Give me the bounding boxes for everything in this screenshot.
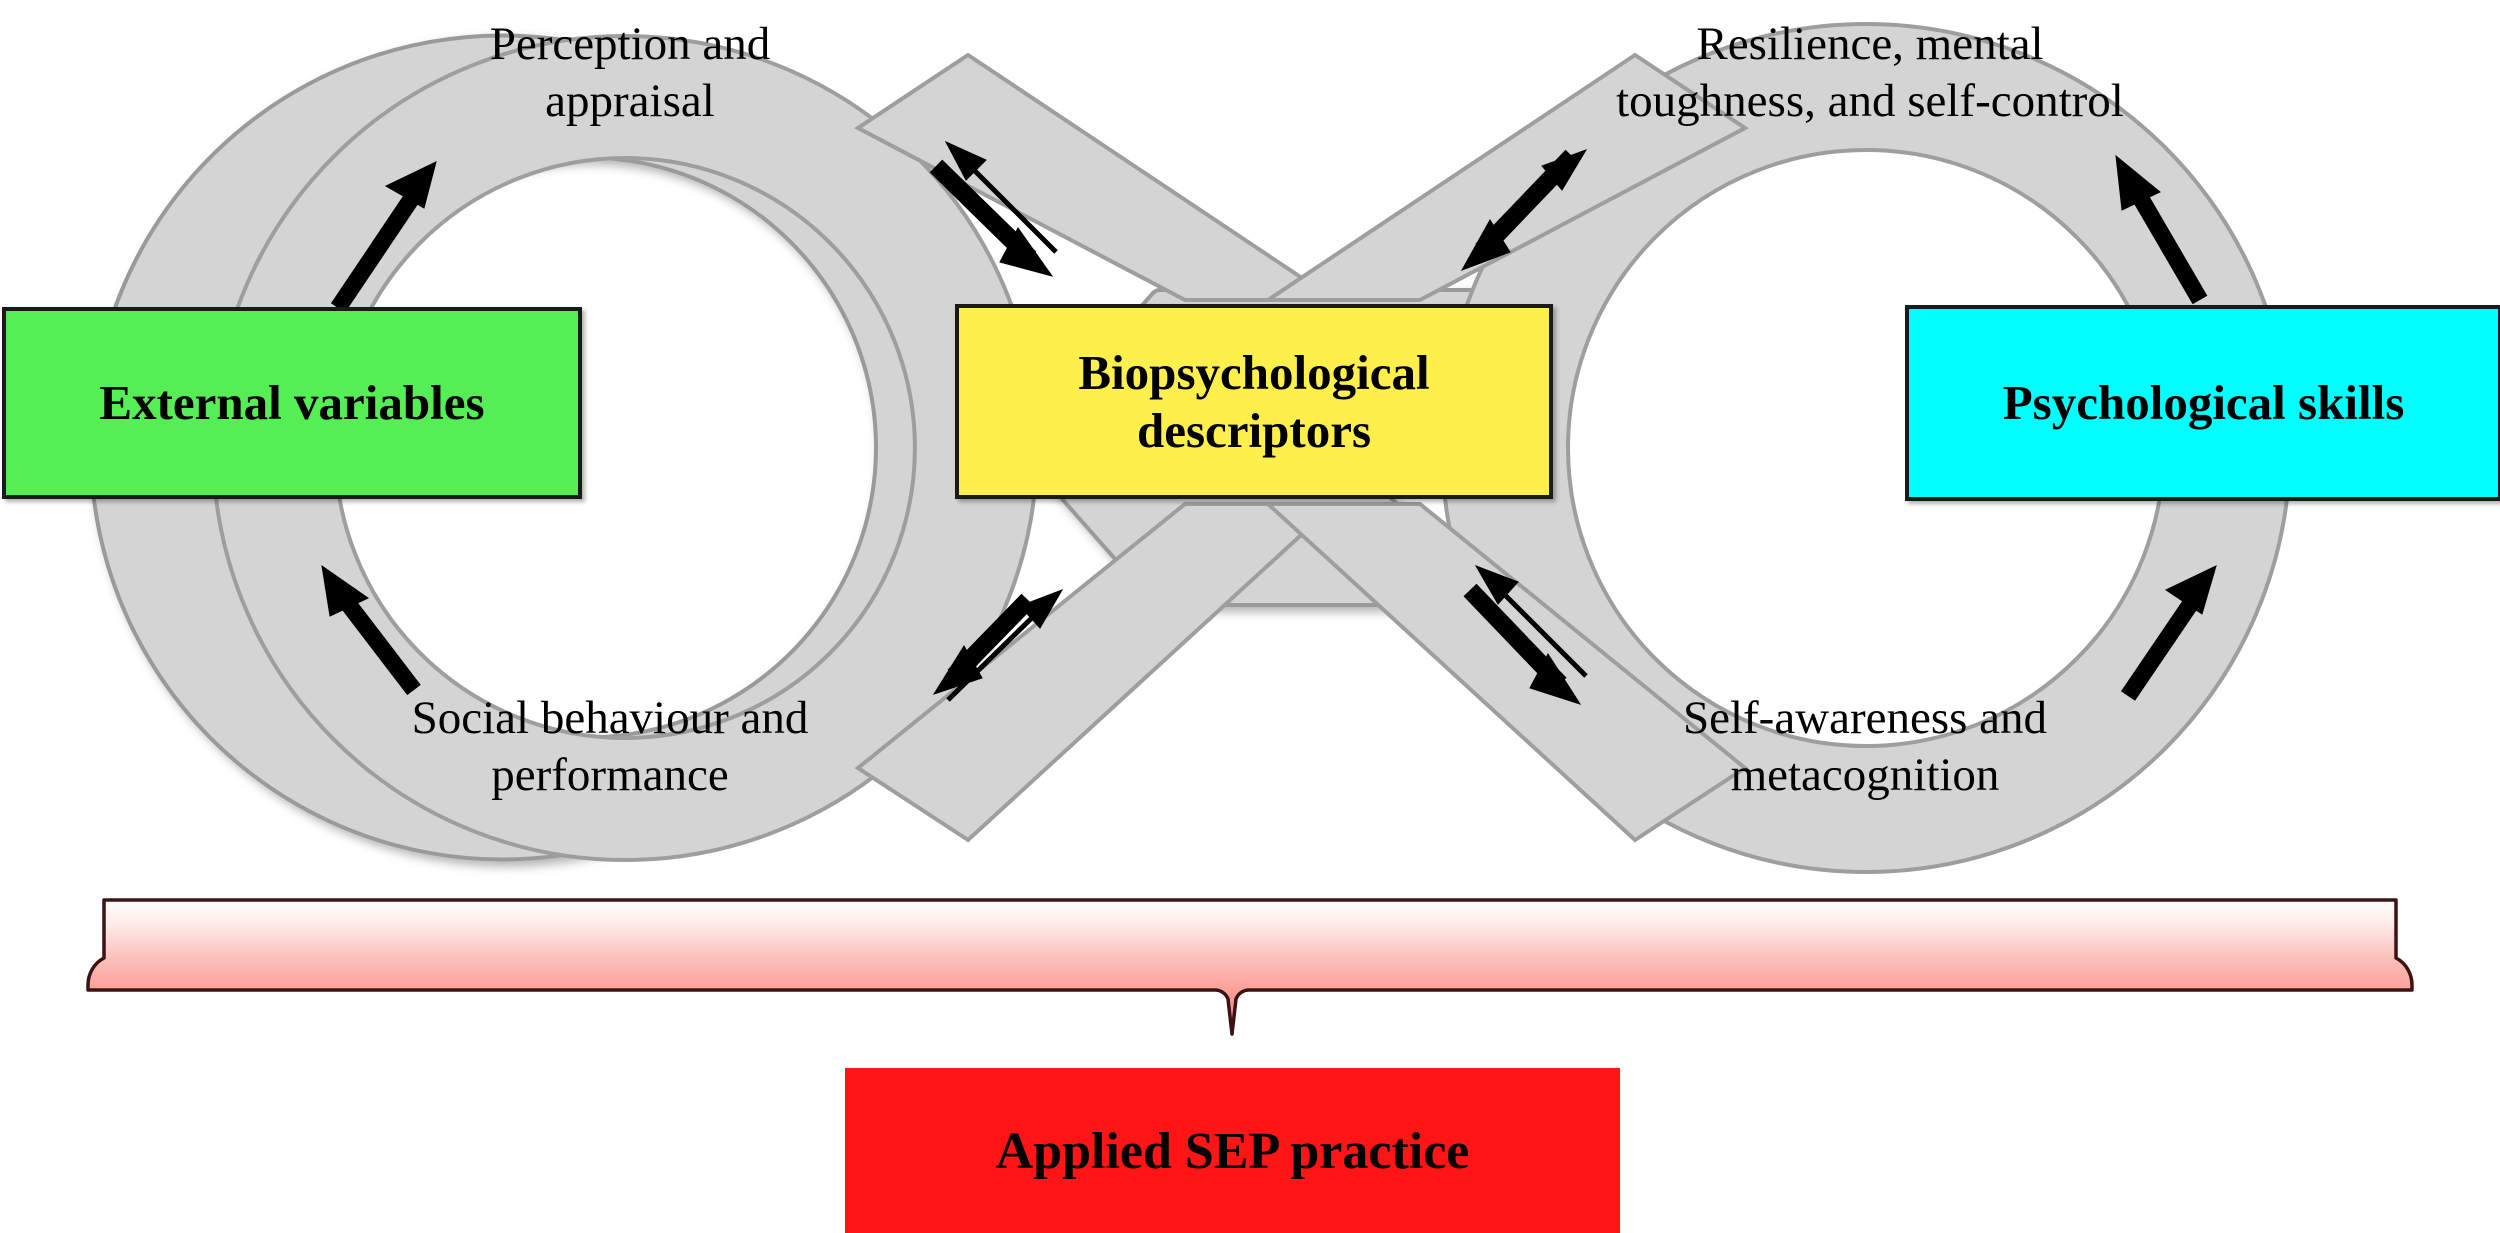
infinity-loop-graphic xyxy=(0,0,2500,1233)
figure-canvas: Perception and appraisal Social behaviou… xyxy=(0,0,2500,1233)
node-box-external-variables[interactable]: External variables xyxy=(2,307,582,499)
node-box-biopsychological-descriptors[interactable]: Biopsychological descriptors xyxy=(955,304,1553,499)
node-box-applied-sep-practice[interactable]: Applied SEP practice xyxy=(845,1068,1620,1233)
node-box-psychological-skills[interactable]: Psychological skills xyxy=(1905,305,2500,501)
applied-practice-brace xyxy=(88,900,2412,1034)
